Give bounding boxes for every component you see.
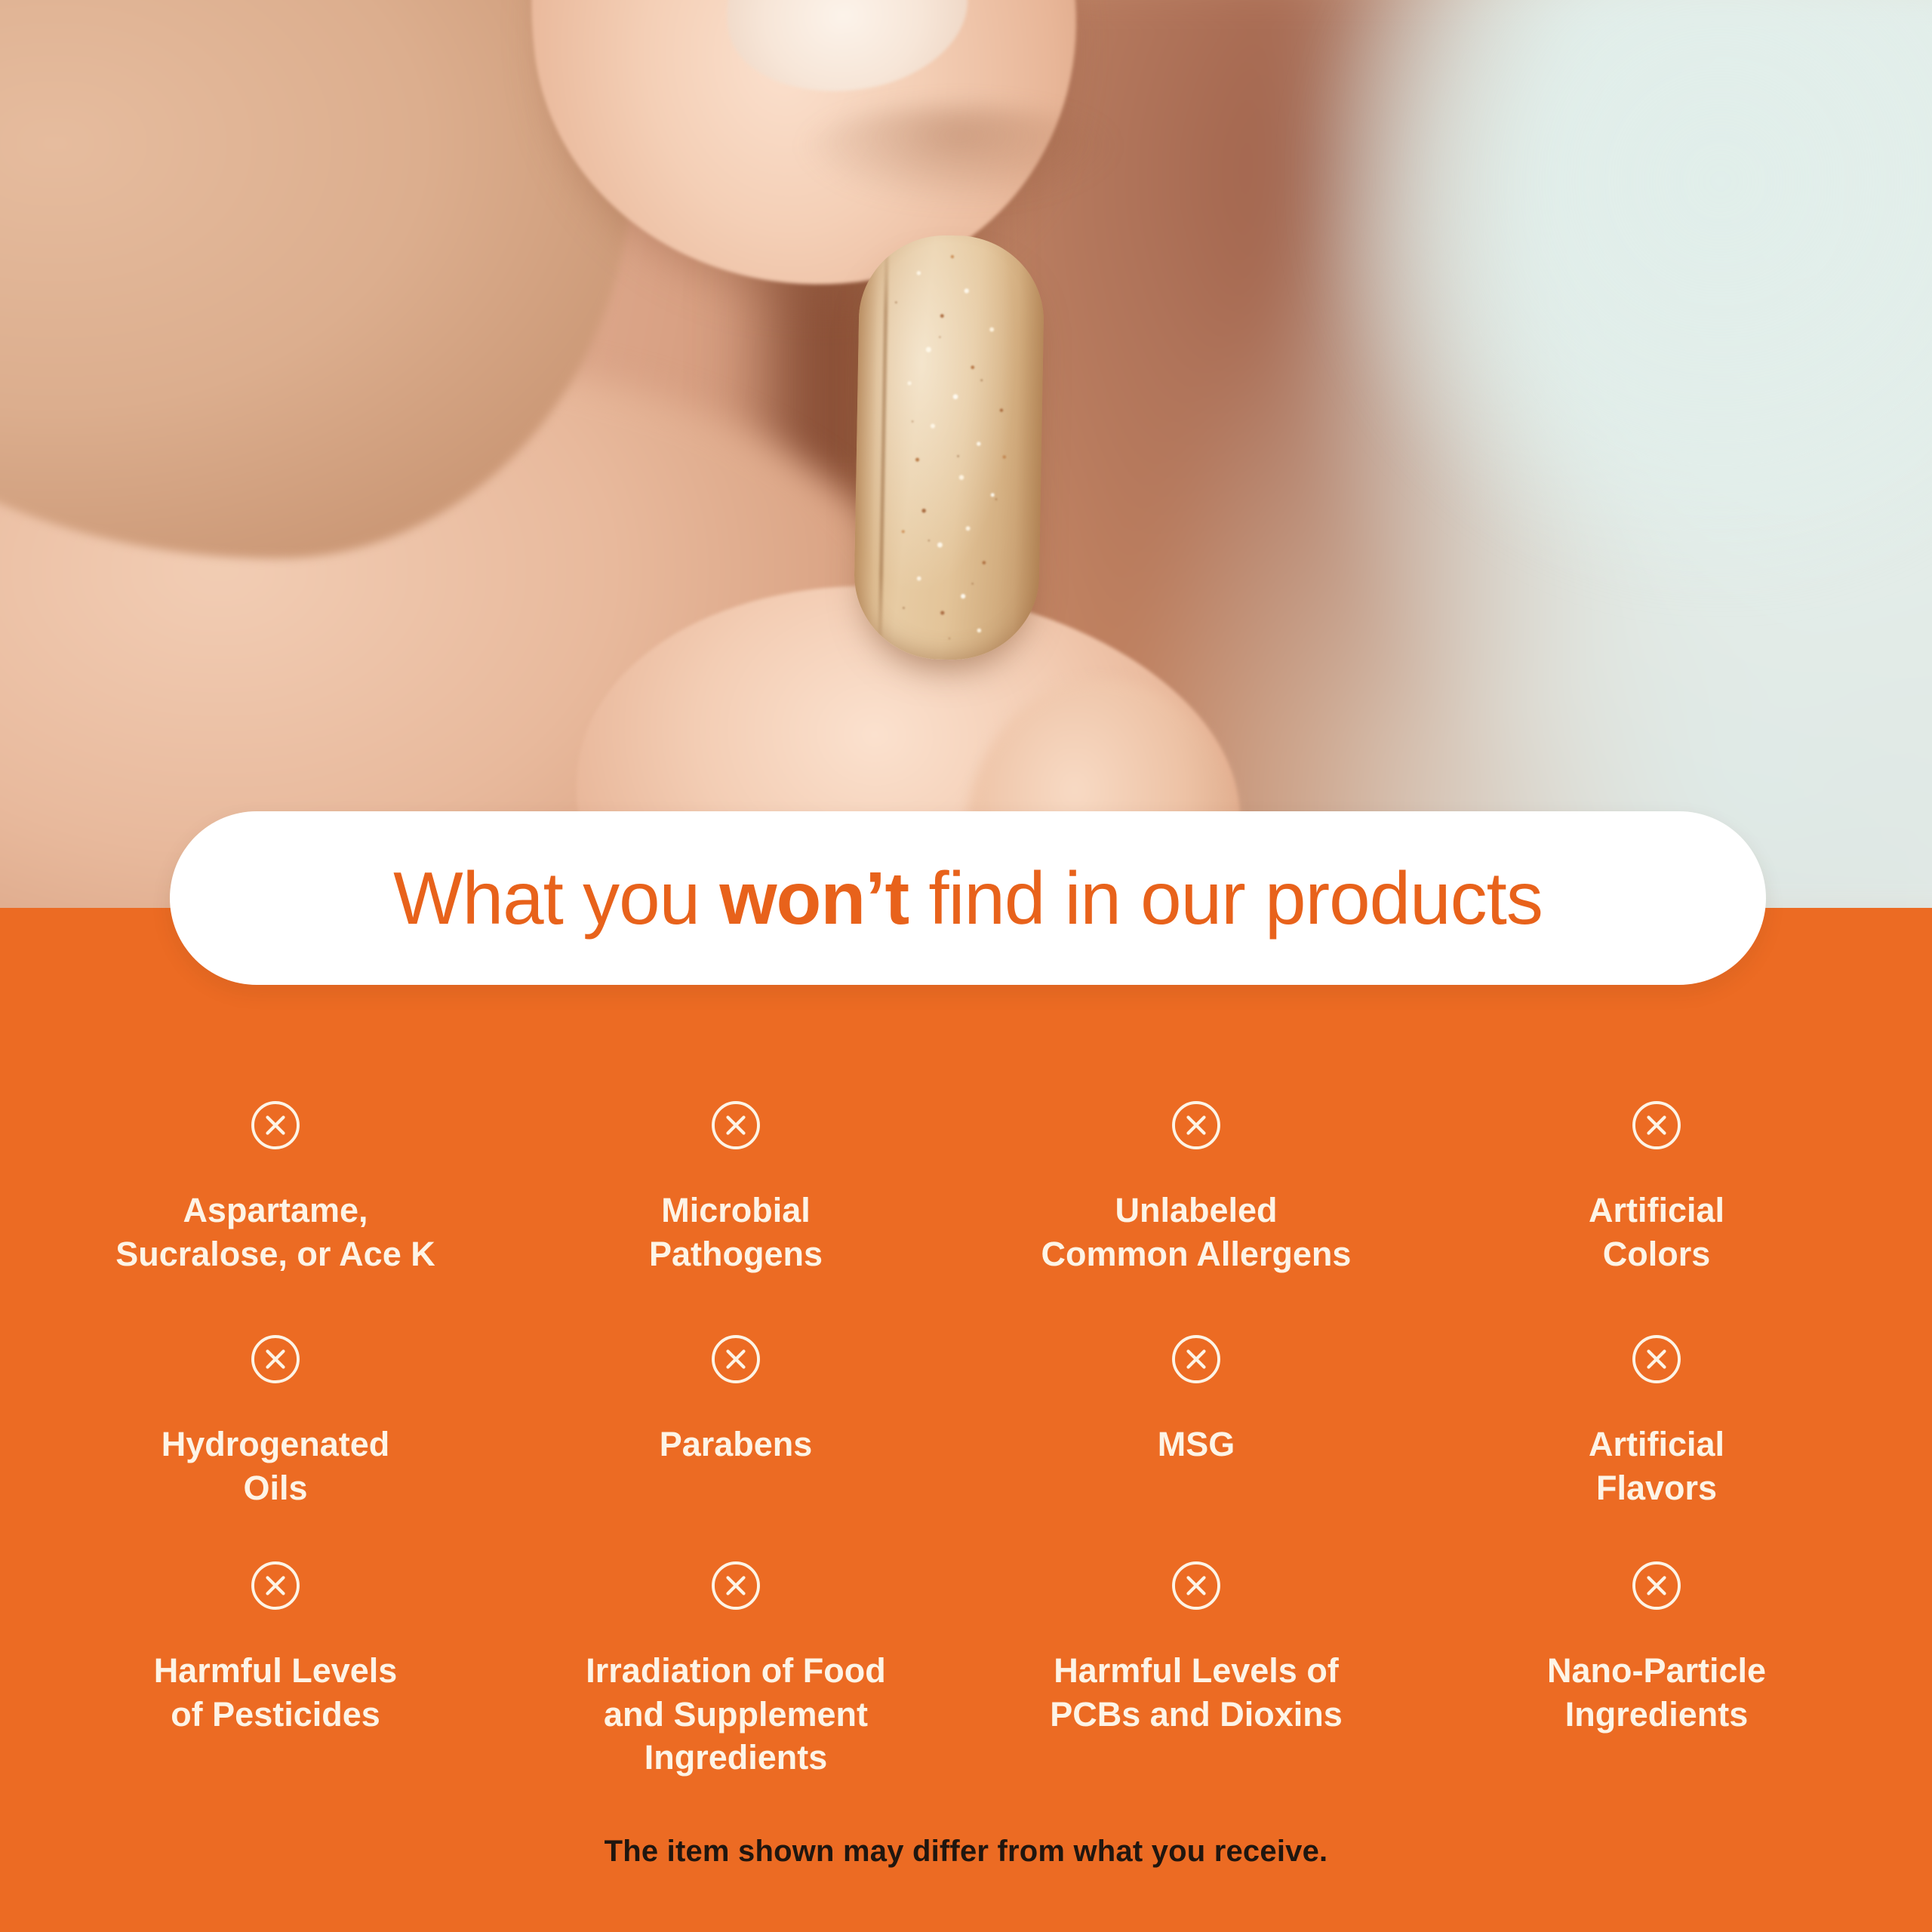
claim-item: Artificial Colors <box>1426 1077 1887 1311</box>
claim-label: Nano-Particle Ingredients <box>1547 1649 1766 1736</box>
circle-x-icon <box>248 1098 303 1152</box>
claim-item: Hydrogenated Oils <box>45 1311 506 1537</box>
headline-part-after: find in our products <box>909 857 1543 940</box>
circle-x-icon <box>1629 1558 1684 1613</box>
circle-x-icon <box>709 1558 763 1613</box>
claim-label: Microbial Pathogens <box>649 1189 823 1275</box>
headline-pill: What you won’t find in our products <box>170 811 1766 985</box>
claim-label: Irradiation of Food and Supplement Ingre… <box>586 1649 885 1780</box>
claim-item: Irradiation of Food and Supplement Ingre… <box>506 1537 966 1786</box>
claim-label: Parabens <box>660 1423 813 1466</box>
headline-part-before: What you <box>393 857 719 940</box>
tablet-right-edge <box>997 236 1045 661</box>
thumb-shadow <box>800 106 1117 204</box>
circle-x-icon <box>1169 1332 1223 1386</box>
page-title: What you won’t find in our products <box>393 856 1543 941</box>
claim-item: Aspartame, Sucralose, or Ace K <box>45 1077 506 1311</box>
claims-grid: Aspartame, Sucralose, or Ace KMicrobial … <box>45 1077 1887 1786</box>
circle-x-icon <box>1169 1098 1223 1152</box>
product-photo <box>0 0 1932 913</box>
circle-x-icon <box>248 1332 303 1386</box>
claim-label: Artificial Colors <box>1589 1189 1724 1275</box>
claim-item: Microbial Pathogens <box>506 1077 966 1311</box>
claim-item: Artificial Flavors <box>1426 1311 1887 1537</box>
claim-item: Parabens <box>506 1311 966 1537</box>
claim-item: Unlabeled Common Allergens <box>966 1077 1426 1311</box>
headline-emphasis: won’t <box>719 857 909 940</box>
circle-x-icon <box>1629 1098 1684 1152</box>
circle-x-icon <box>709 1098 763 1152</box>
claim-label: Harmful Levels of PCBs and Dioxins <box>1050 1649 1343 1736</box>
hand <box>0 0 1932 913</box>
claim-item: MSG <box>966 1311 1426 1537</box>
circle-x-icon <box>709 1332 763 1386</box>
claim-label: MSG <box>1158 1423 1235 1466</box>
disclaimer-text: The item shown may differ from what you … <box>0 1835 1932 1869</box>
claim-label: Artificial Flavors <box>1589 1423 1724 1509</box>
supplement-tablet <box>853 234 1045 661</box>
claim-label: Aspartame, Sucralose, or Ace K <box>115 1189 435 1275</box>
claim-item: Harmful Levels of Pesticides <box>45 1537 506 1786</box>
claim-label: Hydrogenated Oils <box>162 1423 390 1509</box>
claims-panel: What you won’t find in our products Aspa… <box>0 908 1932 1932</box>
claim-label: Harmful Levels of Pesticides <box>154 1649 398 1736</box>
circle-x-icon <box>1169 1558 1223 1613</box>
circle-x-icon <box>248 1558 303 1613</box>
claim-item: Nano-Particle Ingredients <box>1426 1537 1887 1786</box>
claim-label: Unlabeled Common Allergens <box>1041 1189 1352 1275</box>
claim-item: Harmful Levels of PCBs and Dioxins <box>966 1537 1426 1786</box>
circle-x-icon <box>1629 1332 1684 1386</box>
